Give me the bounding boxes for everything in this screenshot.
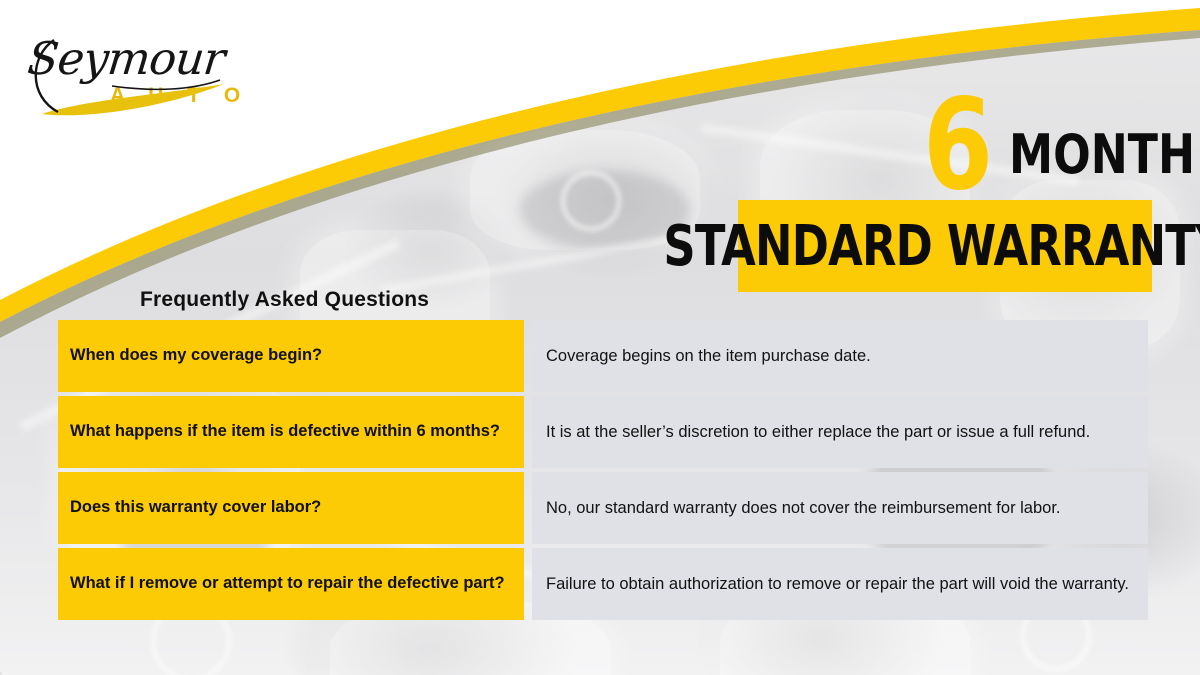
faq-heading: Frequently Asked Questions (140, 288, 429, 312)
faq-answer: It is at the seller’s discretion to eith… (532, 396, 1148, 468)
faq-answer: No, our standard warranty does not cover… (532, 472, 1148, 544)
duration-heading: 6 MONTH (905, 78, 1165, 188)
duration-unit: MONTH (1009, 128, 1195, 182)
faq-answer: Coverage begins on the item purchase dat… (532, 320, 1148, 392)
warranty-banner-title: STANDARD WARRANTY (663, 214, 1200, 279)
faq-table: When does my coverage begin? Coverage be… (58, 320, 1148, 620)
duration-number: 6 (923, 96, 990, 194)
faq-question: Does this warranty cover labor? (58, 472, 524, 544)
table-row: Does this warranty cover labor? No, our … (58, 472, 1148, 544)
faq-question: What happens if the item is defective wi… (58, 396, 524, 468)
warranty-slide: Seymour A U T O 6 MONTH STANDARD WARRANT… (0, 0, 1200, 675)
brand-logo: Seymour A U T O (24, 22, 234, 122)
table-row: When does my coverage begin? Coverage be… (58, 320, 1148, 392)
faq-answer: Failure to obtain authorization to remov… (532, 548, 1148, 620)
table-row: What if I remove or attempt to repair th… (58, 548, 1148, 620)
faq-question: What if I remove or attempt to repair th… (58, 548, 524, 620)
warranty-banner: STANDARD WARRANTY (738, 200, 1152, 292)
faq-question: When does my coverage begin? (58, 320, 524, 392)
logo-swoosh-icon (24, 22, 234, 122)
table-row: What happens if the item is defective wi… (58, 396, 1148, 468)
